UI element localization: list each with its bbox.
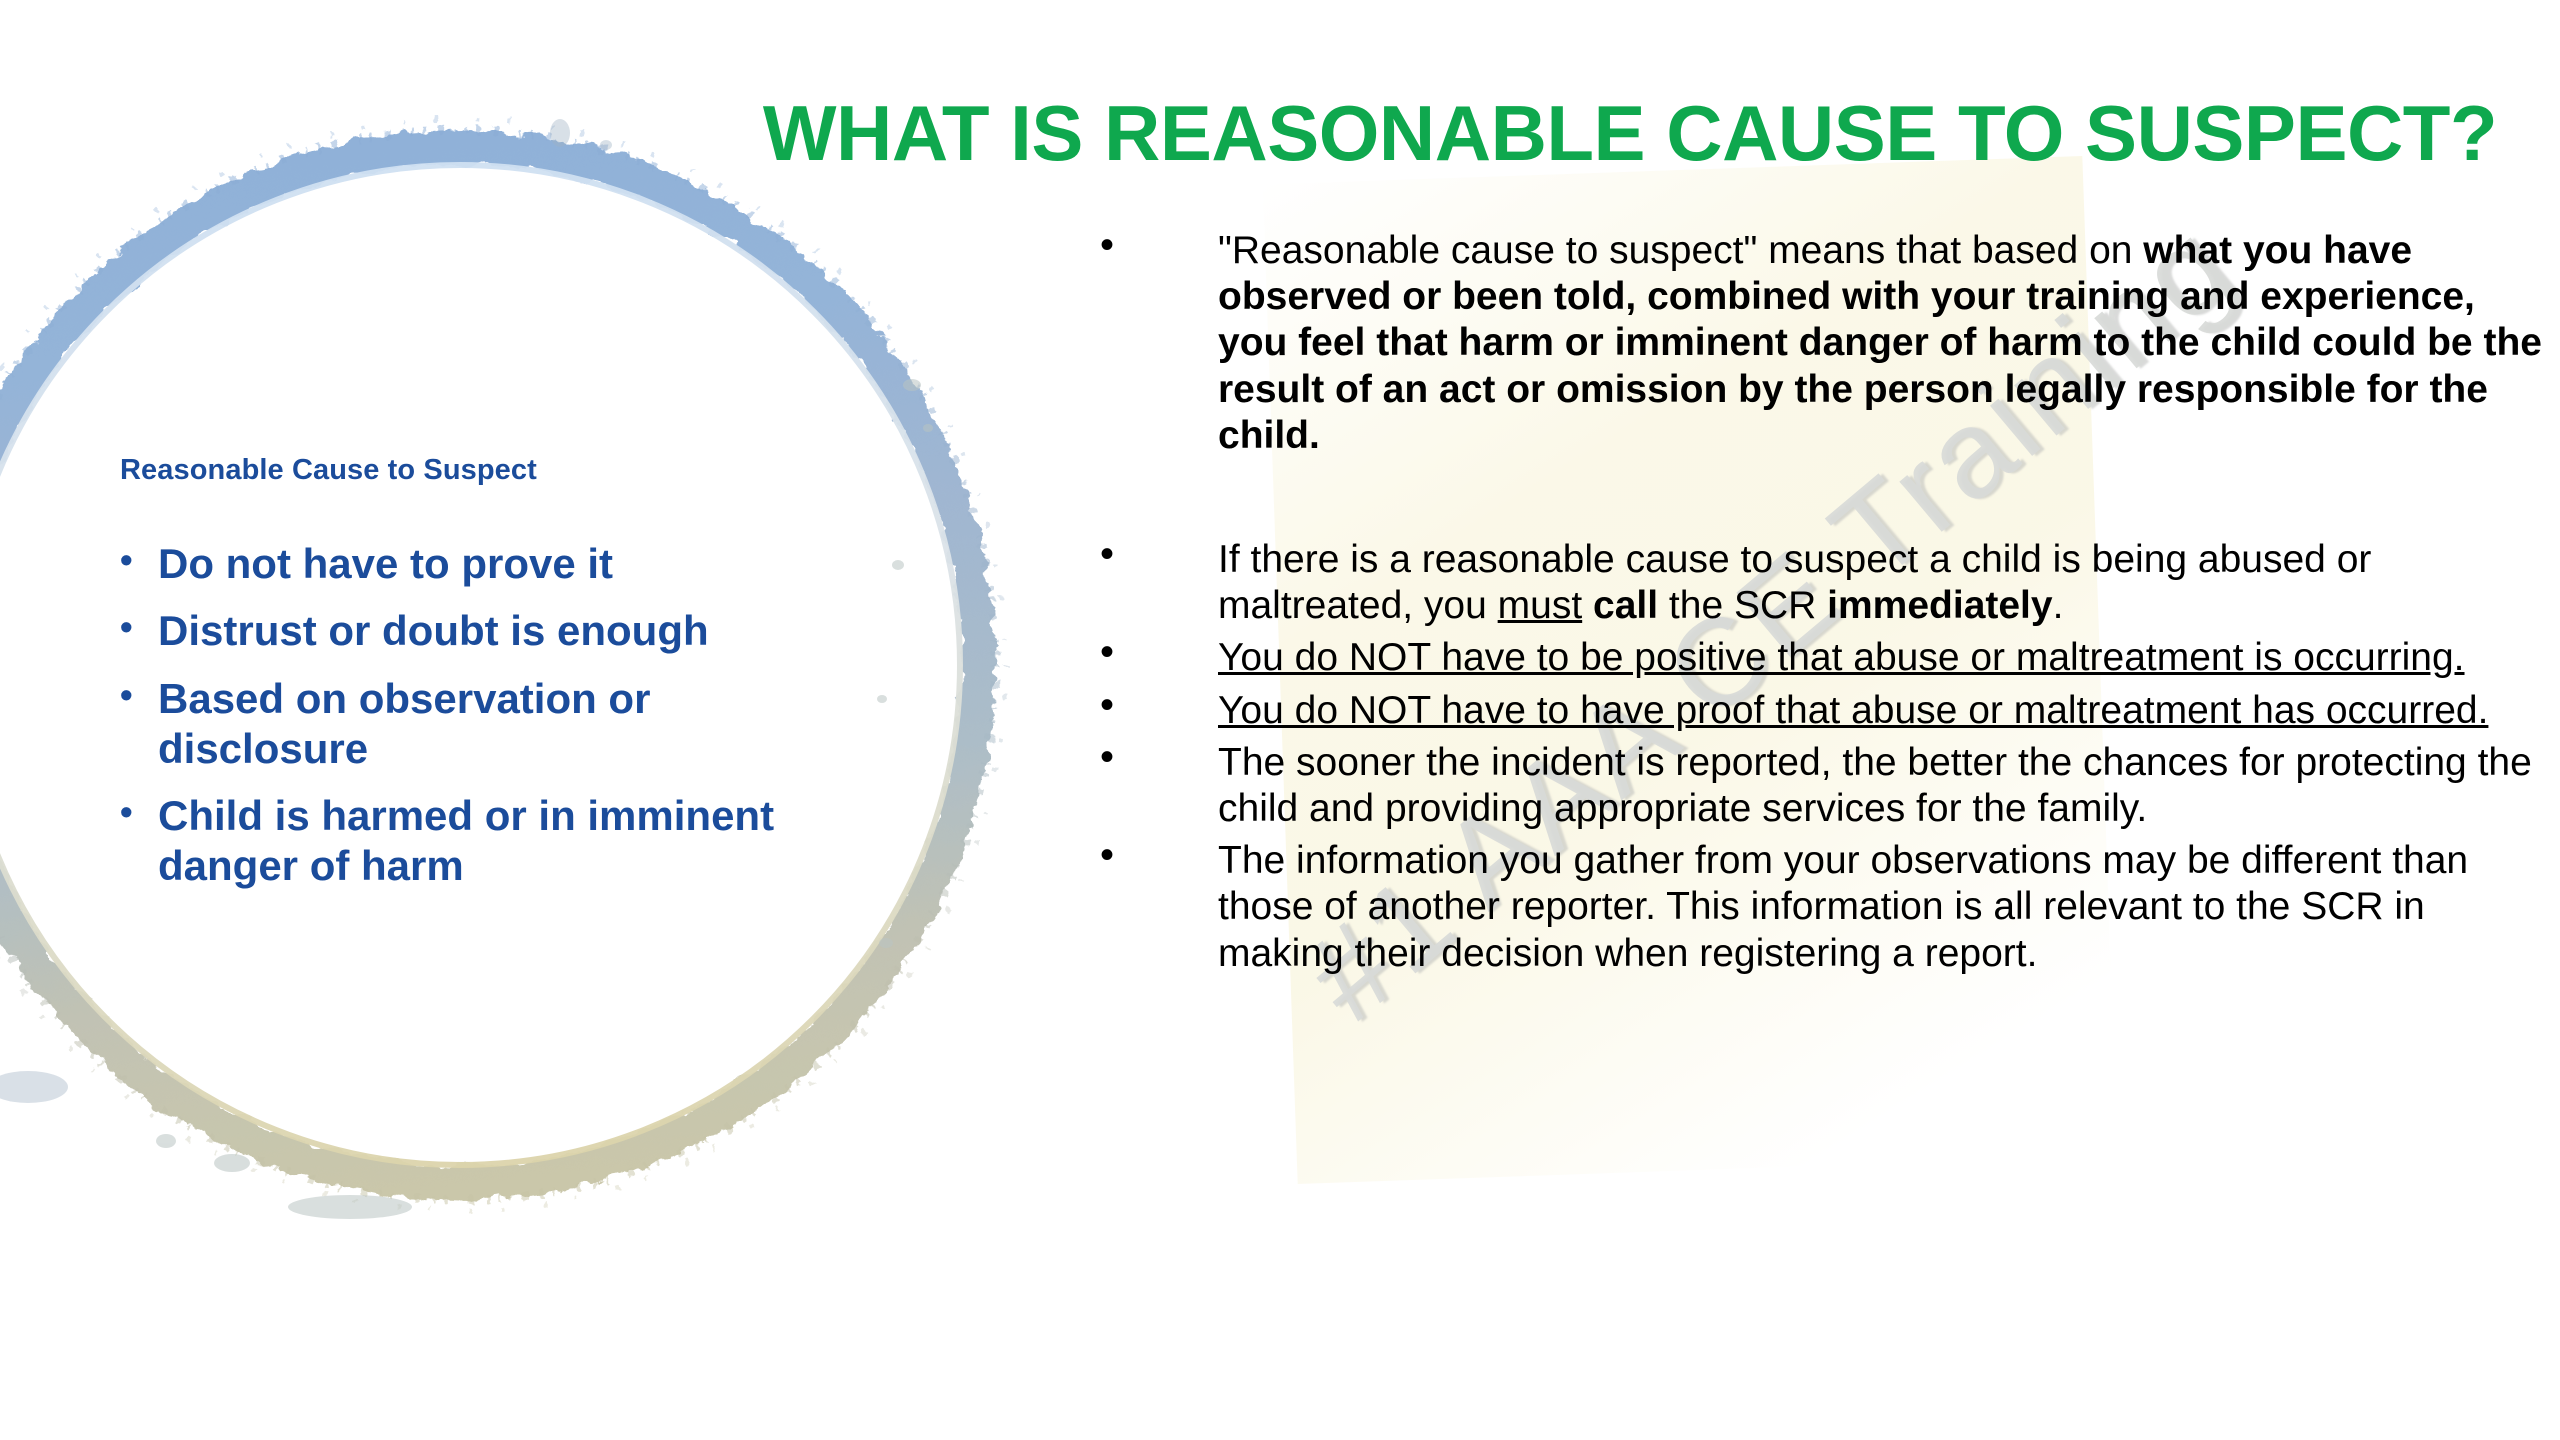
text-run: You do NOT have to be positive that abus… — [1218, 636, 2465, 679]
list-item: If there is a reasonable cause to suspec… — [1100, 537, 2550, 629]
list-item: You do NOT have to have proof that abuse… — [1100, 688, 2550, 734]
list-item: You do NOT have to be positive that abus… — [1100, 635, 2550, 681]
text-run: The sooner the incident is reported, the… — [1218, 741, 2532, 830]
text-run: immediately — [1827, 584, 2052, 627]
text-run: call — [1593, 584, 1658, 627]
list-item: Based on observation or disclosure — [120, 674, 780, 773]
list-item: The sooner the incident is reported, the… — [1100, 740, 2550, 832]
text-run: . — [2053, 584, 2064, 627]
text-run: You do NOT have to have proof that abuse… — [1218, 689, 2488, 732]
left-content-panel: Reasonable Cause to Suspect Do not have … — [120, 455, 780, 908]
left-panel-heading: Reasonable Cause to Suspect — [120, 455, 780, 487]
right-bullet-list: "Reasonable cause to suspect" means that… — [1100, 228, 2550, 977]
slide-title: WHAT IS REASONABLE CAUSE TO SUSPECT? — [700, 94, 2560, 172]
text-run: The information you gather from your obs… — [1218, 839, 2468, 974]
list-item: Child is harmed or in imminent danger of… — [120, 791, 780, 890]
left-bullet-list: Do not have to prove it Distrust or doub… — [120, 539, 780, 890]
text-run: "Reasonable cause to suspect" means that… — [1218, 229, 2143, 272]
list-item: The information you gather from your obs… — [1100, 838, 2550, 977]
text-run: the SCR — [1658, 584, 1827, 627]
list-item: Do not have to prove it — [120, 539, 780, 589]
text-run: must — [1498, 584, 1583, 627]
list-item: "Reasonable cause to suspect" means that… — [1100, 228, 2550, 459]
spacer — [1100, 459, 2550, 537]
right-content-panel: "Reasonable cause to suspect" means that… — [1100, 228, 2550, 977]
list-item: Distrust or doubt is enough — [120, 606, 780, 656]
text-run — [1582, 584, 1593, 627]
presentation-slide: #1 AAA CE Training WHAT IS REASONABLE CA… — [0, 0, 2560, 1440]
